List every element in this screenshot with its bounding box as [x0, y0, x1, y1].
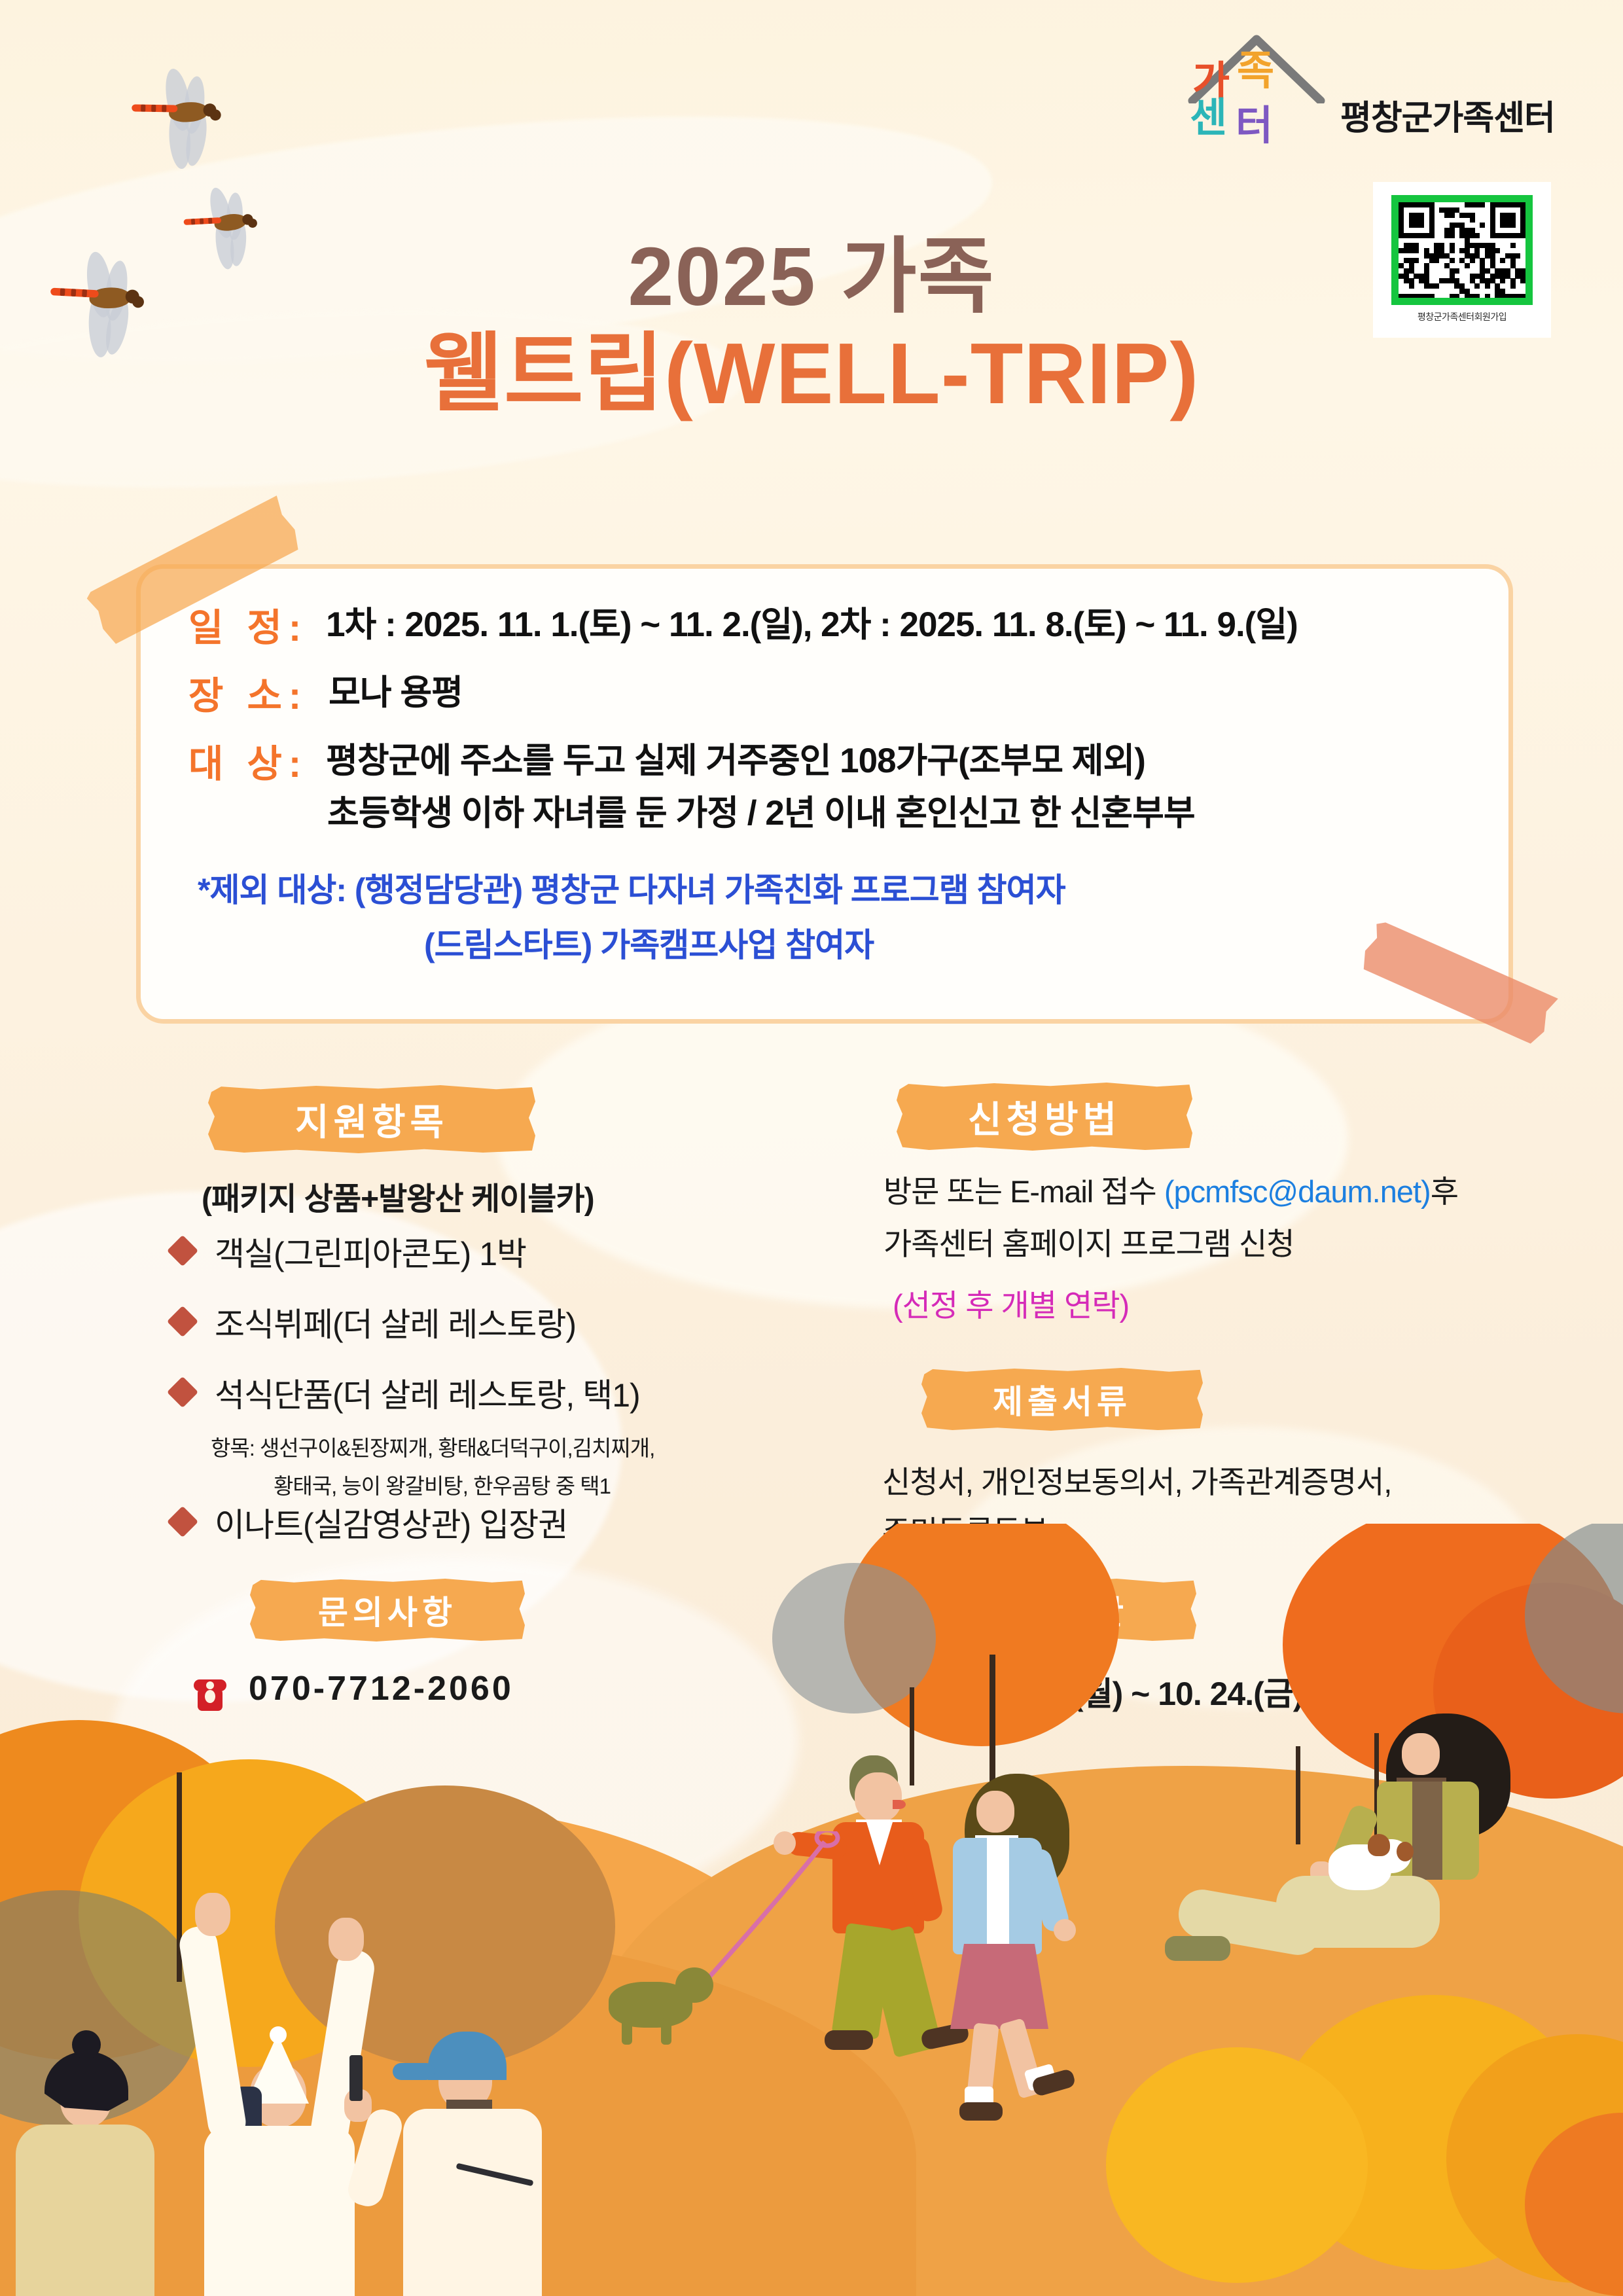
- logo-char-3: 터: [1236, 106, 1273, 147]
- autumn-illustration: [0, 1524, 1623, 2296]
- title-line-2: 웰트립(WELL-TRIP): [0, 325, 1623, 422]
- family-center-logo: 가 족 센 터: [1178, 27, 1335, 152]
- section-heading-support: 지원항목: [208, 1085, 535, 1153]
- dog-head: [675, 1967, 713, 2003]
- center-name-label: 평창군가족센터: [1340, 90, 1555, 139]
- dog-leg: [622, 2018, 632, 2045]
- info-value-place: 모나 용평: [329, 665, 463, 715]
- puppy-ear: [1368, 1834, 1390, 1856]
- tree-trunk: [990, 1655, 995, 1785]
- section-heading-apply: 신청방법: [897, 1083, 1192, 1151]
- exclusion-line-2: (드림스타트) 가족캠프사업 참여자: [424, 919, 874, 966]
- info-value-schedule: 1차 : 2025. 11. 1.(토) ~ 11. 2.(일), 2차 : 2…: [326, 597, 1298, 647]
- tree-canopy: [275, 1785, 615, 2067]
- documents-line-1: 신청서, 개인정보동의서, 가족관계증명서,: [882, 1457, 1391, 1502]
- apply-line1-post: 후: [1431, 1174, 1458, 1209]
- info-label-target: 대 상:: [188, 733, 308, 788]
- menu-note-line-1: 항목: 생선구이&된장찌개, 황태&더덕구이,김치찌개,: [211, 1431, 654, 1462]
- dog-leg: [661, 2018, 671, 2045]
- apply-line1-pre: 방문 또는 E-mail 접수: [883, 1174, 1164, 1209]
- apply-method-line-2: 가족센터 홈페이지 프로그램 신청: [883, 1219, 1294, 1264]
- support-item-2: 석식단품(더 살레 레스토랑, 택1): [215, 1369, 640, 1416]
- support-item-1: 조식뷔페(더 살레 레스토랑): [215, 1299, 576, 1346]
- title-line-1: 2025 가족: [0, 230, 1623, 323]
- tree-trunk: [910, 1687, 914, 1785]
- info-row-place: 장 소: 모나 용평: [188, 665, 463, 720]
- tree-trunk: [1296, 1746, 1300, 1844]
- info-value-target: 평창군에 주소를 두고 실제 거주중인 108가구(조부모 제외): [326, 733, 1145, 783]
- info-row-target: 대 상: 평창군에 주소를 두고 실제 거주중인 108가구(조부모 제외): [188, 733, 1145, 788]
- puppy-ear: [1397, 1842, 1414, 1861]
- support-item-0: 객실(그린피아콘도) 1박: [215, 1228, 526, 1275]
- exclusion-line-1: *제외 대상: (행정담당관) 평창군 다자녀 가족친화 프로그램 참여자: [198, 864, 1065, 911]
- poster-title: 2025 가족 웰트립(WELL-TRIP): [0, 230, 1623, 422]
- logo-char-2: 센: [1190, 98, 1227, 139]
- apply-email[interactable]: (pcmfsc@daum.net): [1164, 1174, 1431, 1209]
- info-label-place: 장 소:: [188, 665, 308, 720]
- section-heading-documents: 제출서류: [921, 1368, 1203, 1431]
- apply-method-line-1: 방문 또는 E-mail 접수 (pcmfsc@daum.net)후: [883, 1166, 1458, 1211]
- apply-note: (선정 후 개별 연락): [893, 1280, 1129, 1325]
- tree-canopy: [1106, 2047, 1368, 2283]
- support-subtitle: (패키지 상품+발왕산 케이블카): [202, 1173, 594, 1219]
- info-label-schedule: 일 정:: [188, 597, 308, 652]
- menu-note-line-2: 황태국, 능이 왕갈비탕, 한우곰탕 중 택1: [274, 1469, 611, 1500]
- info-row-schedule: 일 정: 1차 : 2025. 11. 1.(토) ~ 11. 2.(일), 2…: [188, 597, 1298, 652]
- logo-char-1: 족: [1237, 51, 1274, 92]
- info-target-line-2: 초등학생 이하 자녀를 둔 가정 / 2년 이내 혼인신고 한 신혼부부: [327, 785, 1195, 835]
